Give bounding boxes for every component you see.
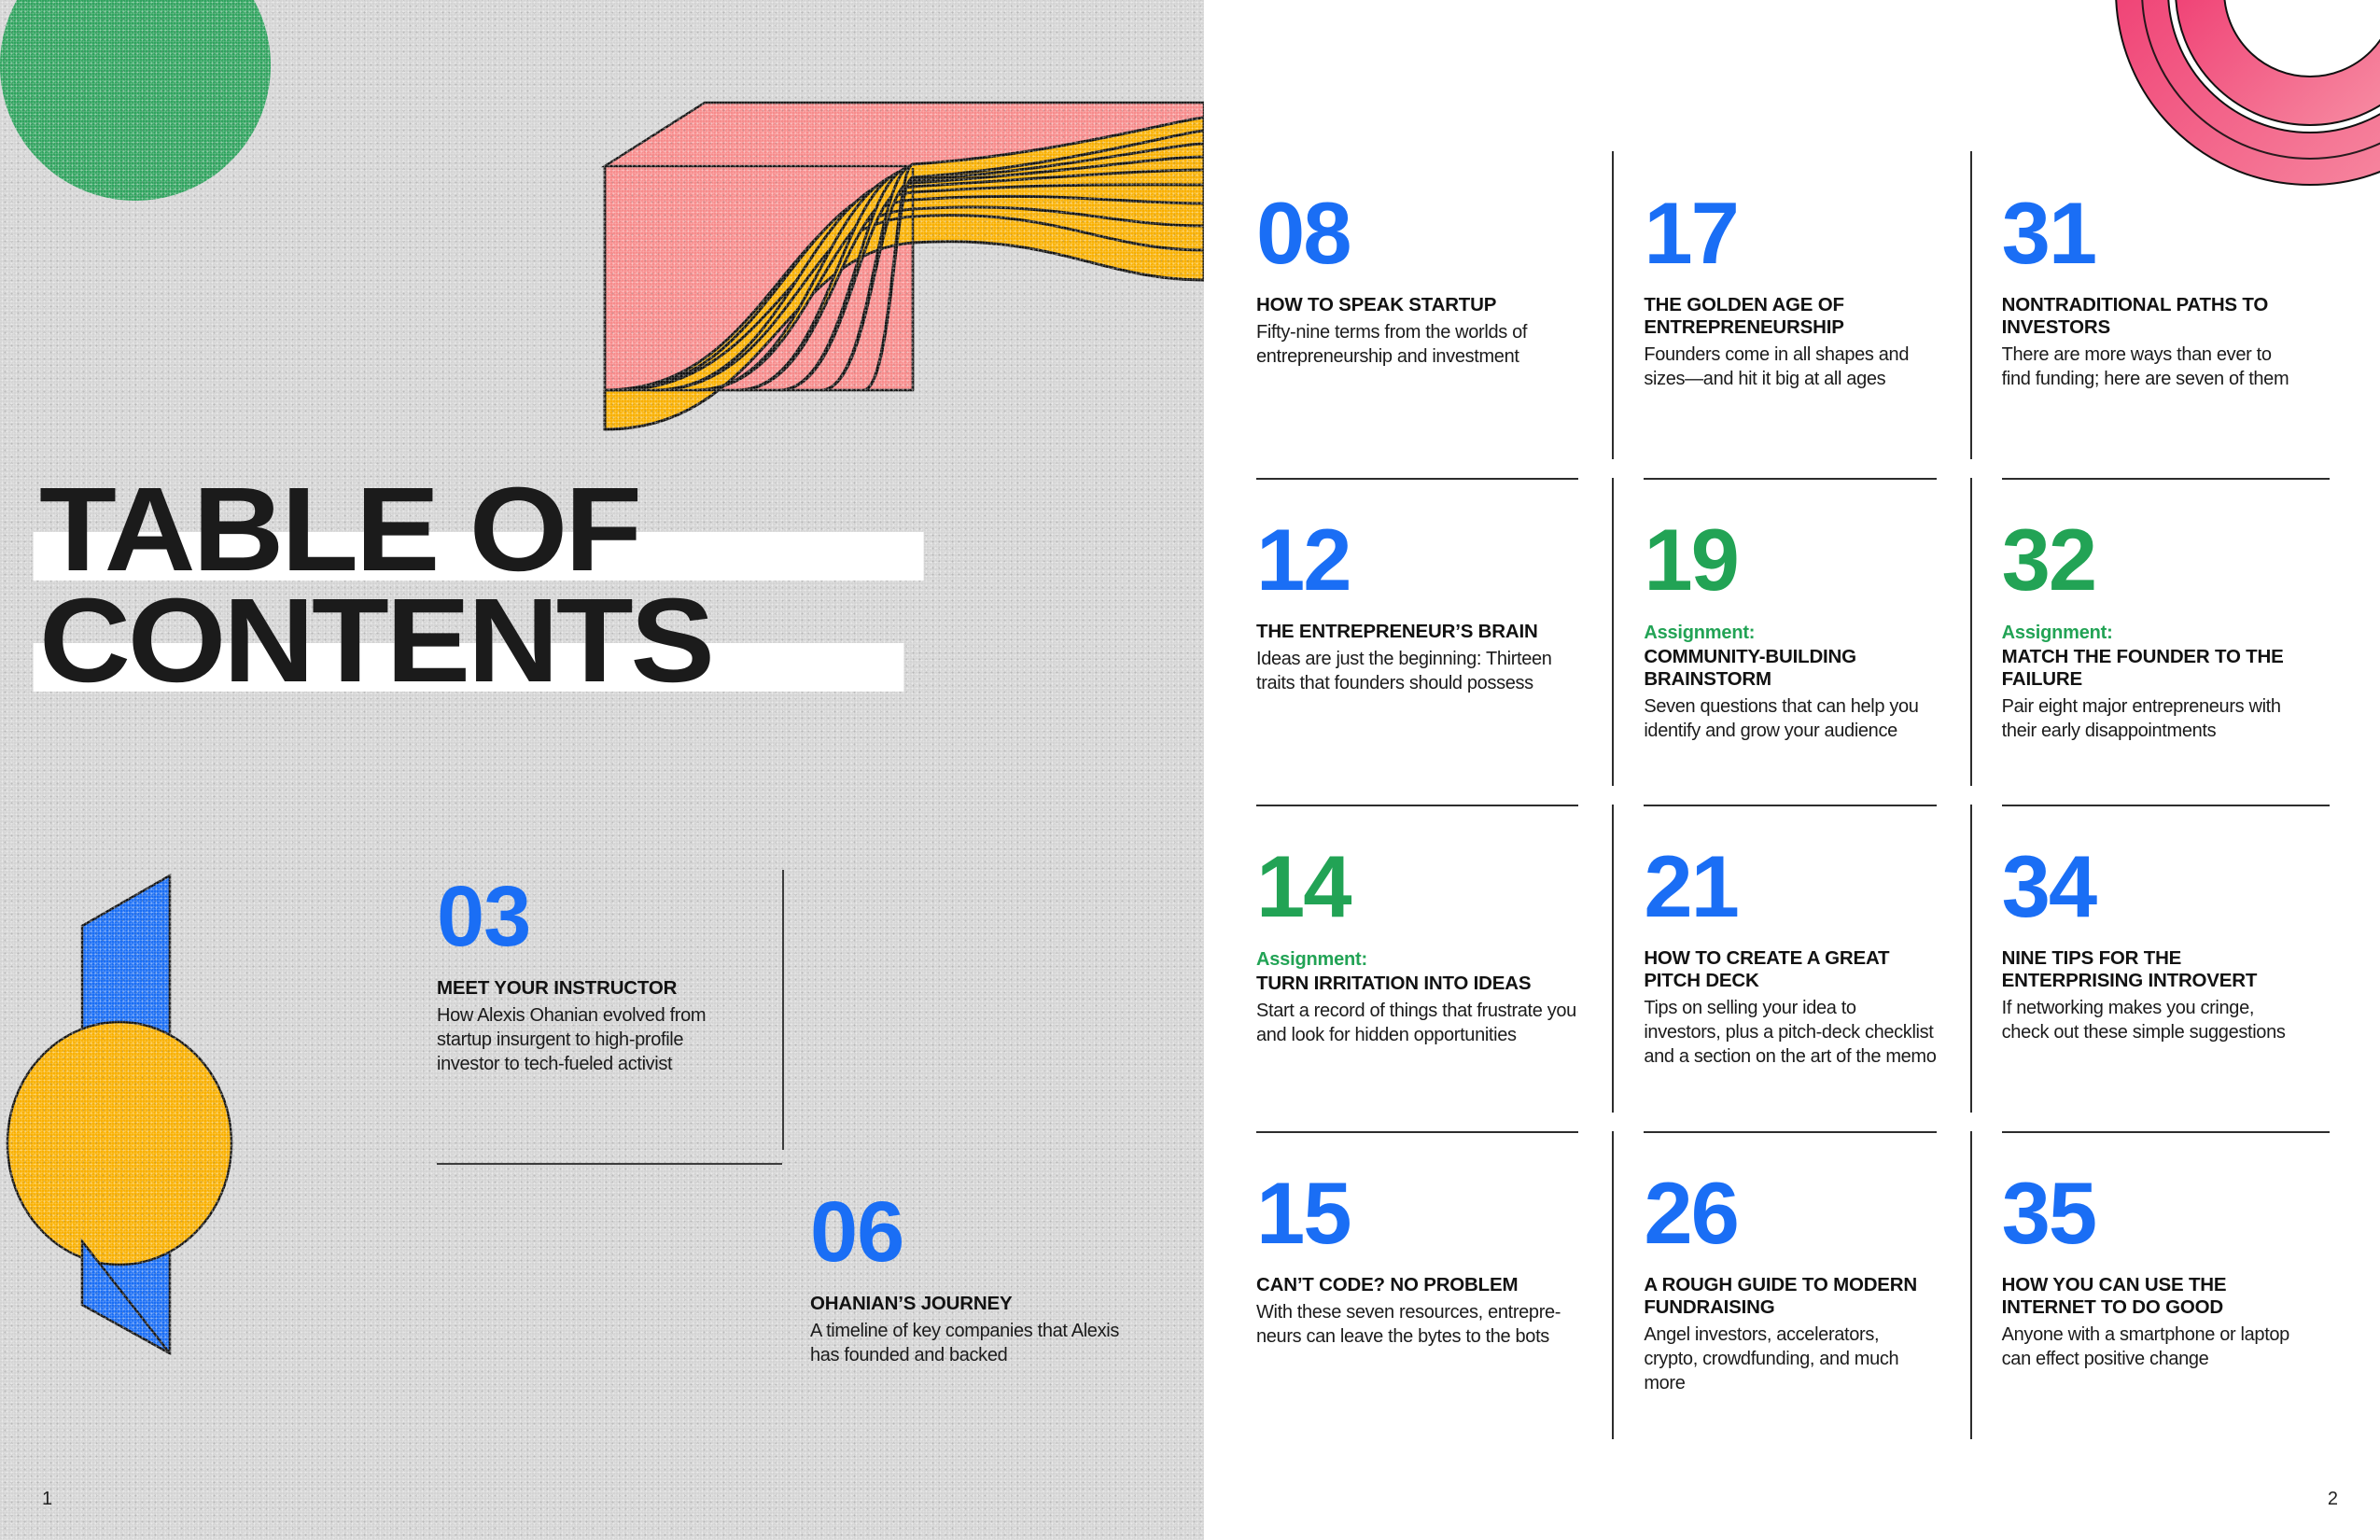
toc-entry-number: 17 <box>1644 194 1936 273</box>
row-divider <box>1256 478 1578 480</box>
toc-entry-description: How Alexis Ohanian evolved from startup … <box>437 1003 745 1077</box>
toc-entry-description: There are more ways than ever to find fu… <box>2002 343 2294 391</box>
toc-entry-description: Pair eight major entrepreneurs with thei… <box>2002 694 2294 743</box>
toc-entry-kicker: MATCH THE FOUNDER TO THE FAILURE <box>2002 646 2294 691</box>
toc-entry-number: 03 <box>437 877 745 957</box>
row-divider <box>1644 1131 1936 1133</box>
toc-entry-21[interactable]: 21 HOW TO CREATE A GREAT PITCH DECK Tips… <box>1614 847 1971 1174</box>
toc-entry-31[interactable]: 31 NONTRADITIONAL PATHS TO INVESTORS The… <box>1972 194 2330 521</box>
toc-entry-number: 15 <box>1256 1174 1578 1253</box>
row-divider <box>2002 1131 2330 1133</box>
toc-entry-kicker: COMMUNITY-BUILDING BRAINSTORM <box>1644 646 1936 691</box>
page-number-left: 1 <box>42 1489 52 1510</box>
toc-entry-kicker: THE GOLDEN AGE OF ENTREPRENEURSHIP <box>1644 294 1936 339</box>
toc-entry-description: Ideas are just the beginning: Thirteen t… <box>1256 647 1578 695</box>
toc-entry-kicker: TURN IRRITATION INTO IDEAS <box>1256 973 1578 995</box>
toc-entry-number: 12 <box>1256 521 1578 600</box>
toc-entry-number: 14 <box>1256 847 1578 927</box>
toc-entry-description: Seven questions that can help you identi… <box>1644 694 1936 743</box>
toc-entry-19[interactable]: 19 Assignment: COMMUNITY-BUILDING BRAINS… <box>1614 521 1971 847</box>
magazine-spread: TABLE OF CONTENTS 03 MEET YOUR INSTRUCTO… <box>0 0 2380 1540</box>
toc-entry-14[interactable]: 14 Assignment: TURN IRRITATION INTO IDEA… <box>1256 847 1614 1174</box>
pink-rings-shape <box>2116 0 2380 185</box>
toc-entry-03[interactable]: 03 MEET YOUR INSTRUCTOR How Alexis Ohani… <box>437 877 745 1077</box>
toc-entry-number: 35 <box>2002 1174 2294 1253</box>
entry-divider-horizontal <box>437 1163 782 1165</box>
toc-entry-description: Tips on selling your idea to investors, … <box>1644 996 1936 1069</box>
toc-entry-description: With these seven resources, entrepre-neu… <box>1256 1300 1578 1349</box>
toc-entry-number: 34 <box>2002 847 2294 927</box>
entry-divider-vertical <box>782 870 784 1150</box>
toc-entry-kicker: NONTRADITIONAL PATHS TO INVESTORS <box>2002 294 2294 339</box>
toc-entry-kicker: HOW TO CREATE A GREAT PITCH DECK <box>1644 947 1936 992</box>
toc-entry-35[interactable]: 35 HOW YOU CAN USE THE INTERNET TO DO GO… <box>1972 1174 2330 1501</box>
toc-entry-assignment-label: Assignment: <box>1644 623 1936 644</box>
row-divider <box>1644 478 1936 480</box>
toc-entry-number: 26 <box>1644 1174 1936 1253</box>
toc-entry-description: A timeline of key companies that Alexis … <box>810 1319 1127 1368</box>
toc-entry-description: Fifty-nine terms from the worlds of entr… <box>1256 320 1578 369</box>
toc-entry-kicker: THE ENTREPRENEUR’S BRAIN <box>1256 621 1578 643</box>
toc-entry-number: 06 <box>810 1193 1127 1272</box>
page-number-right: 2 <box>2328 1489 2338 1510</box>
toc-entry-description: Founders come in all shapes and sizes—an… <box>1644 343 1936 391</box>
left-entry-list: 03 MEET YOUR INSTRUCTOR How Alexis Ohani… <box>0 0 1204 1540</box>
toc-entry-kicker: MEET YOUR INSTRUCTOR <box>437 977 745 1000</box>
toc-entry-description: Anyone with a smartphone or laptop can e… <box>2002 1323 2294 1371</box>
row-divider <box>1256 1131 1578 1133</box>
toc-entry-12[interactable]: 12 THE ENTREPRENEUR’S BRAIN Ideas are ju… <box>1256 521 1614 847</box>
toc-entry-assignment-label: Assignment: <box>2002 623 2294 644</box>
toc-entry-number: 32 <box>2002 521 2294 600</box>
toc-entry-08[interactable]: 08 HOW TO SPEAK STARTUP Fifty-nine terms… <box>1256 194 1614 521</box>
toc-entry-kicker: HOW TO SPEAK STARTUP <box>1256 294 1578 316</box>
toc-entry-number: 19 <box>1644 521 1936 600</box>
toc-entry-kicker: NINE TIPS FOR THE ENTERPRISING INTROVERT <box>2002 947 2294 992</box>
toc-entry-number: 08 <box>1256 194 1578 273</box>
toc-entry-number: 31 <box>2002 194 2294 273</box>
left-page: TABLE OF CONTENTS 03 MEET YOUR INSTRUCTO… <box>0 0 1204 1540</box>
toc-entry-kicker: CAN’T CODE? NO PROBLEM <box>1256 1274 1578 1296</box>
toc-entry-32[interactable]: 32 Assignment: MATCH THE FOUNDER TO THE … <box>1972 521 2330 847</box>
toc-grid: 08 HOW TO SPEAK STARTUP Fifty-nine terms… <box>1256 194 2330 1501</box>
toc-entry-06[interactable]: 06 OHANIAN’S JOURNEY A timeline of key c… <box>810 1193 1127 1367</box>
toc-entry-description: If networking makes you cringe, check ou… <box>2002 996 2294 1044</box>
toc-entry-26[interactable]: 26 A ROUGH GUIDE TO MODERN FUNDRAISING A… <box>1614 1174 1971 1501</box>
row-divider <box>2002 478 2330 480</box>
toc-entry-kicker: A ROUGH GUIDE TO MODERN FUNDRAISING <box>1644 1274 1936 1319</box>
row-divider <box>1256 805 1578 806</box>
toc-entry-description: Angel investors, accelerators, crypto, c… <box>1644 1323 1936 1395</box>
row-divider <box>1644 805 1936 806</box>
toc-entry-34[interactable]: 34 NINE TIPS FOR THE ENTERPRISING INTROV… <box>1972 847 2330 1174</box>
toc-entry-kicker: HOW YOU CAN USE THE INTERNET TO DO GOOD <box>2002 1274 2294 1319</box>
right-page: 08 HOW TO SPEAK STARTUP Fifty-nine terms… <box>1204 0 2380 1540</box>
toc-entry-15[interactable]: 15 CAN’T CODE? NO PROBLEM With these sev… <box>1256 1174 1614 1501</box>
toc-entry-number: 21 <box>1644 847 1936 927</box>
row-divider <box>2002 805 2330 806</box>
toc-entry-assignment-label: Assignment: <box>1256 949 1578 971</box>
toc-entry-description: Start a record of things that frustrate … <box>1256 999 1578 1047</box>
toc-entry-17[interactable]: 17 THE GOLDEN AGE OF ENTREPRENEURSHIP Fo… <box>1614 194 1971 521</box>
toc-entry-kicker: OHANIAN’S JOURNEY <box>810 1293 1127 1315</box>
